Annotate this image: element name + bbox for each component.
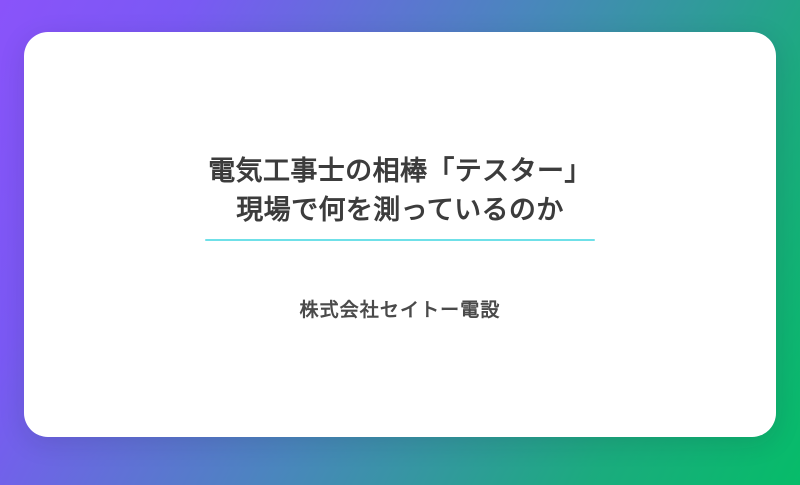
title-card: 電気工事士の相棒「テスター」 現場で何を測っているのか 株式会社セイトー電設 — [24, 32, 776, 437]
title-line-1: 電気工事士の相棒「テスター」 — [208, 153, 592, 191]
card-content: 電気工事士の相棒「テスター」 現場で何を測っているのか 株式会社セイトー電設 — [24, 153, 776, 322]
title-divider — [205, 239, 595, 241]
title-block: 電気工事士の相棒「テスター」 現場で何を測っているのか — [24, 153, 776, 230]
title-line-2: 現場で何を測っているのか — [236, 192, 563, 230]
title-slide: 電気工事士の相棒「テスター」 現場で何を測っているのか 株式会社セイトー電設 — [0, 0, 800, 485]
company-name: 株式会社セイトー電設 — [299, 295, 500, 322]
